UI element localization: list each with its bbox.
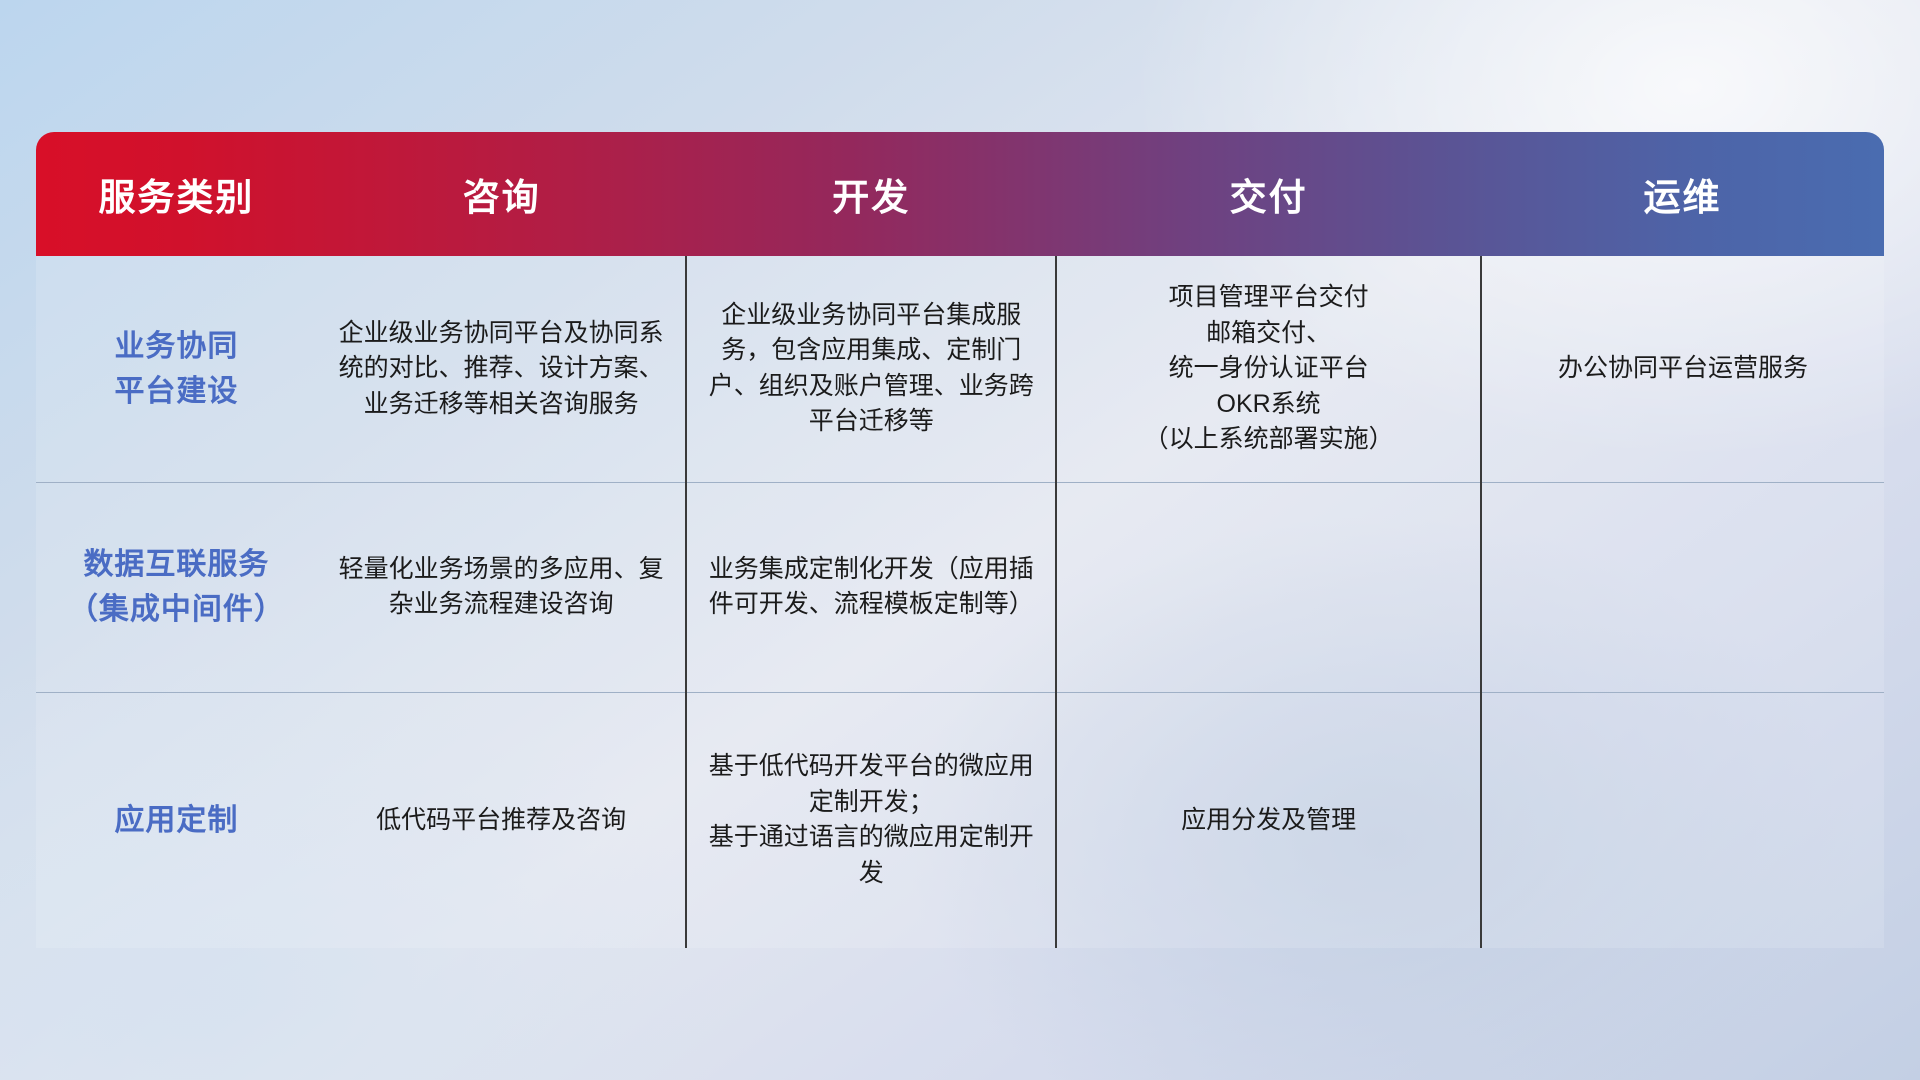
cell-delivery: [1056, 482, 1481, 692]
cell-delivery: 项目管理平台交付 邮箱交付、 统一身份认证平台 OKR系统 （以上系统部署实施）: [1056, 256, 1481, 482]
header-label-category: 服务类别: [98, 177, 254, 218]
cell-development: 企业级业务协同平台集成服务，包含应用集成、定制门户、组织及账户管理、业务跨平台迁…: [686, 256, 1056, 482]
cell-consulting: 企业级业务协同平台及协同系统的对比、推荐、设计方案、业务迁移等相关咨询服务: [317, 256, 687, 482]
category-text: 应用定制: [52, 798, 301, 843]
header-label-development: 开发: [832, 177, 910, 218]
table-body: 业务协同 平台建设 企业级业务协同平台及协同系统的对比、推荐、设计方案、业务迁移…: [36, 256, 1884, 948]
header-cell-development: 开发: [686, 132, 1056, 256]
header-row: 服务类别 咨询 开发 交付 运维: [36, 132, 1884, 256]
header-cell-consulting: 咨询: [317, 132, 687, 256]
slide-canvas: 服务类别 咨询 开发 交付 运维: [0, 0, 1920, 1080]
header-cell-delivery: 交付: [1056, 132, 1481, 256]
cell-development: 业务集成定制化开发（应用插件可开发、流程模板定制等）: [686, 482, 1056, 692]
header-label-consulting: 咨询: [463, 177, 541, 218]
cell-text: 基于低代码开发平台的微应用定制开发； 基于通过语言的微应用定制开发: [703, 749, 1039, 891]
cell-consulting: 低代码平台推荐及咨询: [317, 692, 687, 948]
table-header: 服务类别 咨询 开发 交付 运维: [36, 132, 1884, 256]
category-text: 数据互联服务 （集成中间件）: [52, 542, 301, 632]
row-category-label: 应用定制: [36, 692, 317, 948]
cell-text: 办公协同平台运营服务: [1498, 351, 1868, 387]
cell-text: 轻量化业务场景的多应用、复杂业务流程建设咨询: [333, 552, 670, 623]
cell-delivery: 应用分发及管理: [1056, 692, 1481, 948]
table-row: 数据互联服务 （集成中间件） 轻量化业务场景的多应用、复杂业务流程建设咨询 业务…: [36, 482, 1884, 692]
cell-text: 业务集成定制化开发（应用插件可开发、流程模板定制等）: [703, 552, 1039, 623]
table-row: 应用定制 低代码平台推荐及咨询 基于低代码开发平台的微应用定制开发； 基于通过语…: [36, 692, 1884, 948]
cell-text: 企业级业务协同平台及协同系统的对比、推荐、设计方案、业务迁移等相关咨询服务: [333, 316, 670, 423]
cell-text: 应用分发及管理: [1073, 803, 1464, 839]
cell-operations: [1481, 692, 1884, 948]
header-label-delivery: 交付: [1230, 177, 1308, 218]
header-cell-operations: 运维: [1481, 132, 1884, 256]
cell-text: 企业级业务协同平台集成服务，包含应用集成、定制门户、组织及账户管理、业务跨平台迁…: [703, 298, 1039, 440]
table-row: 业务协同 平台建设 企业级业务协同平台及协同系统的对比、推荐、设计方案、业务迁移…: [36, 256, 1884, 482]
cell-text: 项目管理平台交付 邮箱交付、 统一身份认证平台 OKR系统 （以上系统部署实施）: [1073, 280, 1464, 458]
cell-operations: [1481, 482, 1884, 692]
cell-text: 低代码平台推荐及咨询: [333, 803, 670, 839]
service-matrix-table-wrapper: 服务类别 咨询 开发 交付 运维: [36, 132, 1884, 948]
cell-consulting: 轻量化业务场景的多应用、复杂业务流程建设咨询: [317, 482, 687, 692]
row-category-label: 业务协同 平台建设: [36, 256, 317, 482]
header-cell-category: 服务类别: [36, 132, 317, 256]
row-category-label: 数据互联服务 （集成中间件）: [36, 482, 317, 692]
cell-operations: 办公协同平台运营服务: [1481, 256, 1884, 482]
service-matrix-table: 服务类别 咨询 开发 交付 运维: [36, 132, 1884, 948]
header-label-operations: 运维: [1644, 177, 1722, 218]
cell-development: 基于低代码开发平台的微应用定制开发； 基于通过语言的微应用定制开发: [686, 692, 1056, 948]
category-text: 业务协同 平台建设: [52, 324, 301, 414]
